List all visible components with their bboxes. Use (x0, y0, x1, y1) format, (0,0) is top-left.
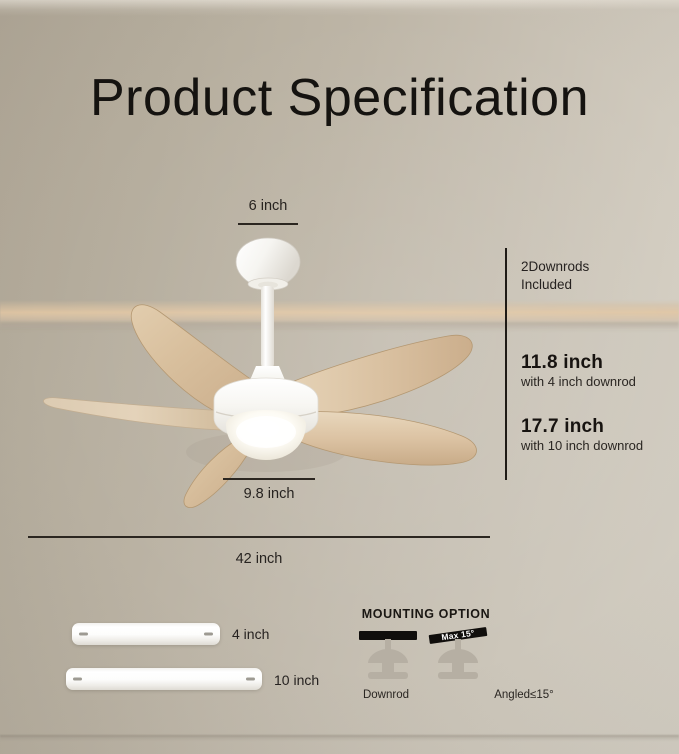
dimension-line-blade-span (28, 536, 490, 538)
downrod-10-inch-label: 10 inch (274, 672, 319, 688)
fan-silhouette-icon (356, 639, 420, 685)
height-spec-long-value: 17.7 inch (521, 416, 643, 438)
mounting-option-angled-caption: Angled≤15° (492, 689, 556, 701)
mounting-option-downrod-caption: Downrod (354, 689, 418, 701)
height-spec-short: 11.8 inch with 4 inch downrod (521, 352, 636, 389)
height-spec-short-detail: with 4 inch downrod (521, 374, 636, 389)
dimension-label-blade-span: 42 inch (28, 551, 490, 567)
product-specification-image: Product Specification (0, 0, 679, 754)
page-title: Product Specification (0, 72, 679, 124)
downrods-included-note: 2Downrods Included (521, 258, 679, 294)
height-spec-long-detail: with 10 inch downrod (521, 438, 643, 453)
dimension-line-canopy (238, 223, 298, 225)
mounting-option-downrod: Downrod (356, 629, 420, 687)
dimension-label-motor-housing: 9.8 inch (223, 486, 315, 502)
downrod-4-inch (72, 623, 220, 645)
dimension-label-canopy: 6 inch (0, 198, 536, 214)
mounting-option-title: MOUNTING OPTION (356, 607, 496, 621)
dimension-line-height-vertical (505, 248, 507, 480)
mounting-option-panel: MOUNTING OPTION Downrod Max 15° (356, 607, 496, 687)
dimension-line-motor-housing (223, 478, 315, 480)
downrod-10-inch (66, 668, 262, 690)
downrod-4-inch-label: 4 inch (232, 626, 269, 642)
height-spec-short-value: 11.8 inch (521, 352, 636, 374)
mounting-option-row: Downrod Max 15° Angled≤15° (356, 629, 496, 687)
downrods-included-text: 2Downrods Included (521, 258, 679, 294)
fan-silhouette-angled-icon (426, 639, 490, 685)
mounting-option-angled: Max 15° Angled≤15° (426, 629, 490, 687)
height-spec-long: 17.7 inch with 10 inch downrod (521, 416, 643, 453)
